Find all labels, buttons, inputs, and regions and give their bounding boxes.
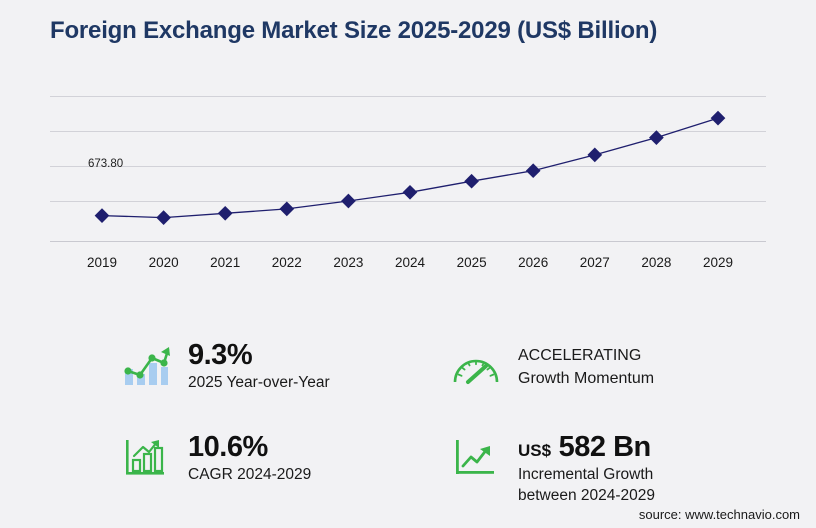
stat-caption: CAGR 2024-2029 [188,465,311,486]
stat-text: ACCELERATING Growth Momentum [518,344,654,390]
x-axis-tick-label: 2025 [457,255,487,270]
stat-value: 10.6% [188,432,311,462]
x-axis-tick-label: 2019 [87,255,117,270]
stat-incremental-growth: US$ 582 Bn Incremental Growth between 20… [448,432,655,507]
x-axis-tick-label: 2026 [518,255,548,270]
data-point-marker [218,206,233,221]
x-axis-tick-label: 2024 [395,255,425,270]
stat-caption-line1: Incremental Growth [518,465,655,486]
stat-unit: US$ [518,441,551,460]
x-axis-tick-label: 2022 [272,255,302,270]
series-markers [95,111,726,225]
data-point-marker [649,130,664,145]
data-point-marker [403,185,418,200]
x-axis-tick-label: 2021 [210,255,240,270]
data-point-label: 673.80 [88,158,123,170]
chart-series-svg [50,96,766,242]
series-line [102,118,718,218]
stat-yoy-growth: 9.3% 2025 Year-over-Year [118,340,330,394]
trend-arrow-icon [448,432,504,482]
growth-bars-line-icon [118,340,174,390]
stat-value: US$ 582 Bn [518,432,655,462]
page-title: Foreign Exchange Market Size 2025-2029 (… [50,17,657,45]
stat-text: 10.6% CAGR 2024-2029 [188,432,311,486]
data-point-marker [156,210,171,225]
data-point-marker [587,148,602,163]
stat-head-line2: Growth Momentum [518,367,654,390]
gauge-icon [448,344,504,394]
data-point-marker [95,208,110,223]
data-point-marker [464,174,479,189]
stat-text: US$ 582 Bn Incremental Growth between 20… [518,432,655,507]
data-point-marker [711,111,726,126]
stat-value: 9.3% [188,340,330,370]
stat-head-line1: ACCELERATING [518,344,654,367]
stats-panel: 9.3% 2025 Year-over-Year 10.6% CAGR 2024… [0,322,816,502]
stat-caption: 2025 Year-over-Year [188,373,330,394]
x-axis-labels: 2019202020212022202320242025202620272028… [50,255,766,273]
x-axis-tick-label: 2028 [641,255,671,270]
x-axis-tick-label: 2023 [333,255,363,270]
stat-caption-line2: between 2024-2029 [518,486,655,507]
stat-cagr: 10.6% CAGR 2024-2029 [118,432,311,486]
line-chart-plot: 673.80 [50,96,766,242]
x-axis-tick-label: 2029 [703,255,733,270]
x-axis-tick-label: 2020 [149,255,179,270]
data-point-marker [279,202,294,217]
bar-chart-arrow-icon [118,432,174,482]
stat-text: 9.3% 2025 Year-over-Year [188,340,330,394]
stat-amount: 582 Bn [559,431,651,463]
data-point-marker [526,163,541,178]
data-point-marker [341,194,356,209]
chart-page: Foreign Exchange Market Size 2025-2029 (… [0,0,816,528]
source-label: source: www.technavio.com [639,507,800,522]
stat-growth-momentum: ACCELERATING Growth Momentum [448,344,654,394]
x-axis-tick-label: 2027 [580,255,610,270]
